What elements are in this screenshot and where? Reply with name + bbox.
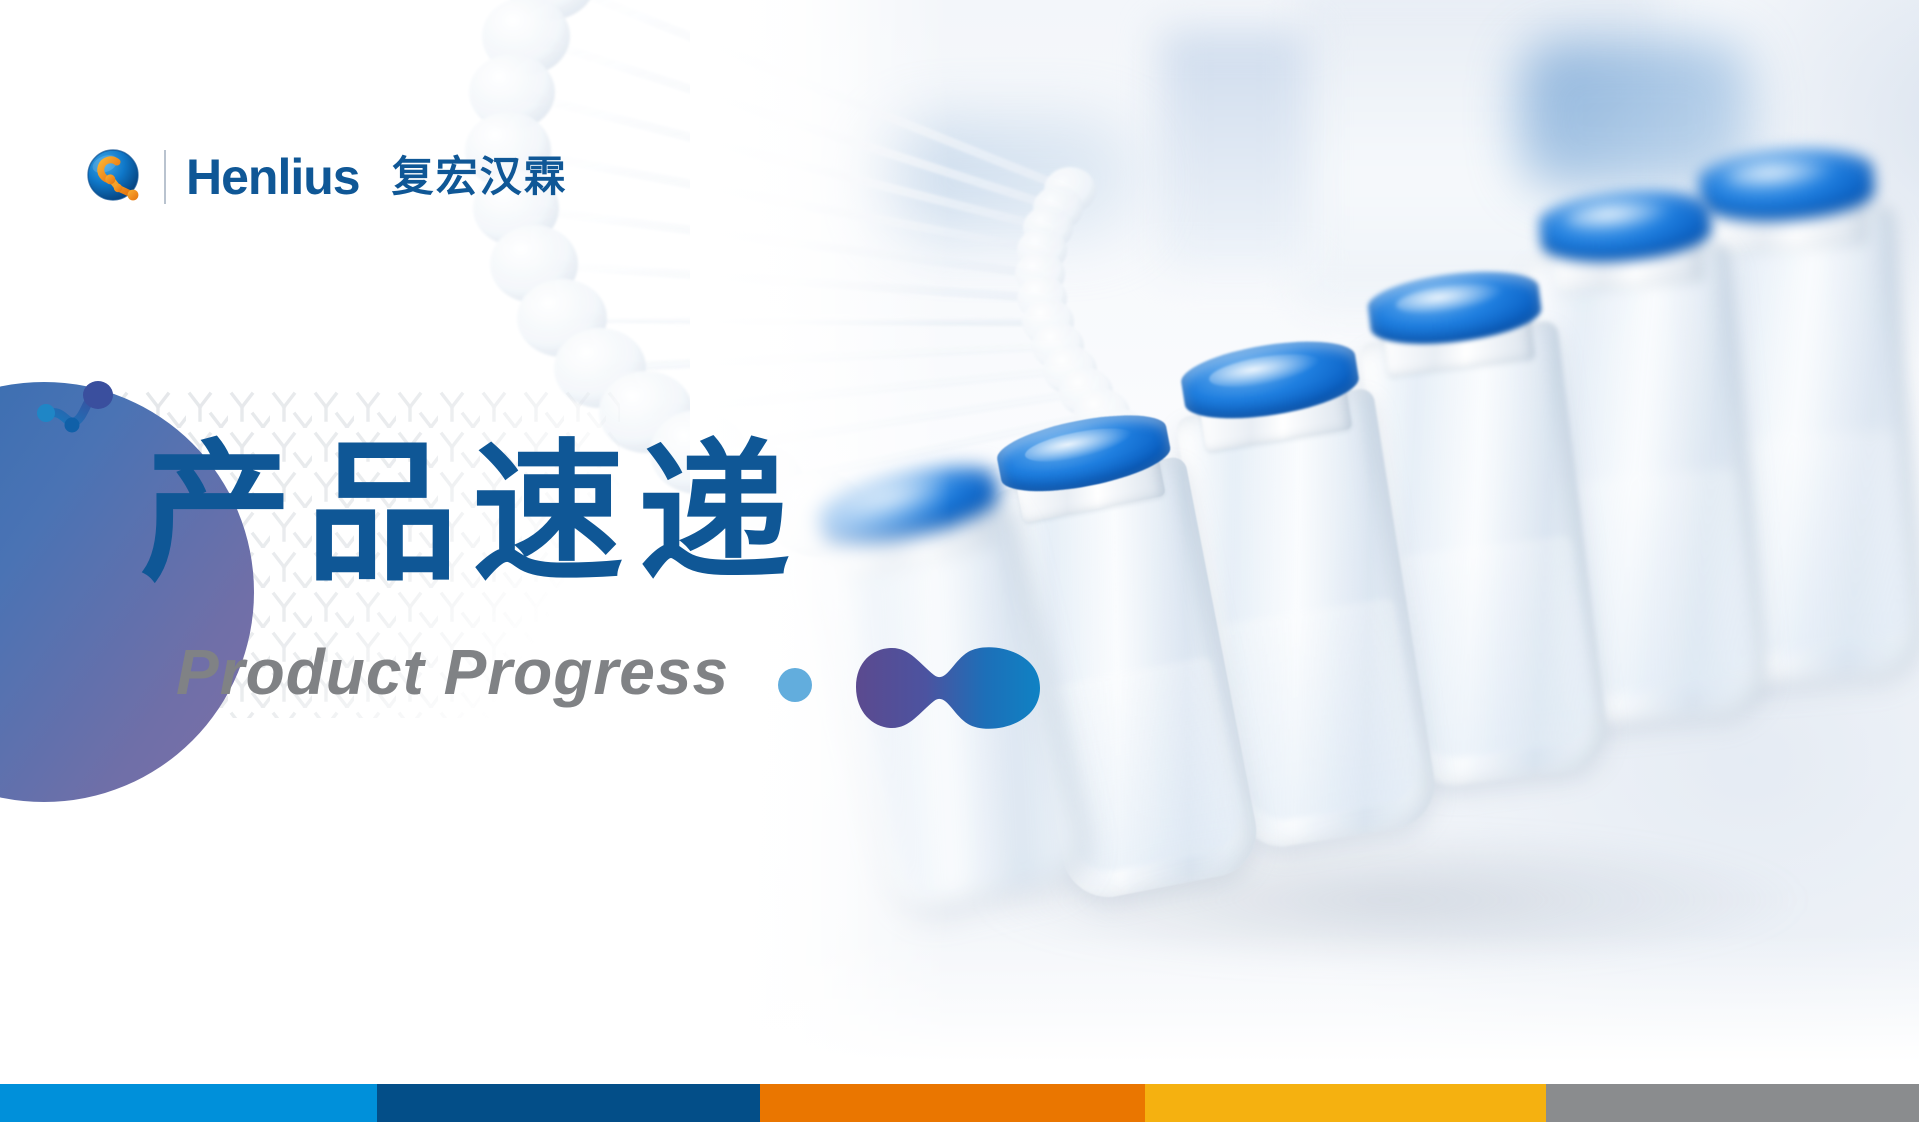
bottom-color-bar	[0, 1084, 1919, 1122]
bar-segment-amber	[1145, 1084, 1546, 1122]
bar-segment-orange	[760, 1084, 1145, 1122]
bar-segment-dark-blue	[377, 1084, 760, 1122]
bar-segment-light-blue	[0, 1084, 377, 1122]
logo-chinese-name: 复宏汉霖	[392, 156, 568, 198]
page-title-chinese: 产品速递	[140, 438, 804, 590]
title-slide: Henlius 复宏汉霖 产品速递 Product Progress	[0, 0, 1919, 1122]
bar-segment-gray	[1546, 1084, 1919, 1122]
page-subtitle-english: Product Progress	[176, 640, 729, 704]
brand-logo: Henlius 复宏汉霖	[84, 146, 568, 208]
molecule-nodes-icon	[22, 378, 132, 454]
metaball-connector-decoration	[848, 634, 1048, 740]
henlius-molecule-logo-icon	[84, 146, 146, 208]
logo-wordmark: Henlius	[186, 152, 360, 202]
logo-divider	[164, 150, 166, 204]
accent-dot-decoration	[778, 668, 812, 702]
